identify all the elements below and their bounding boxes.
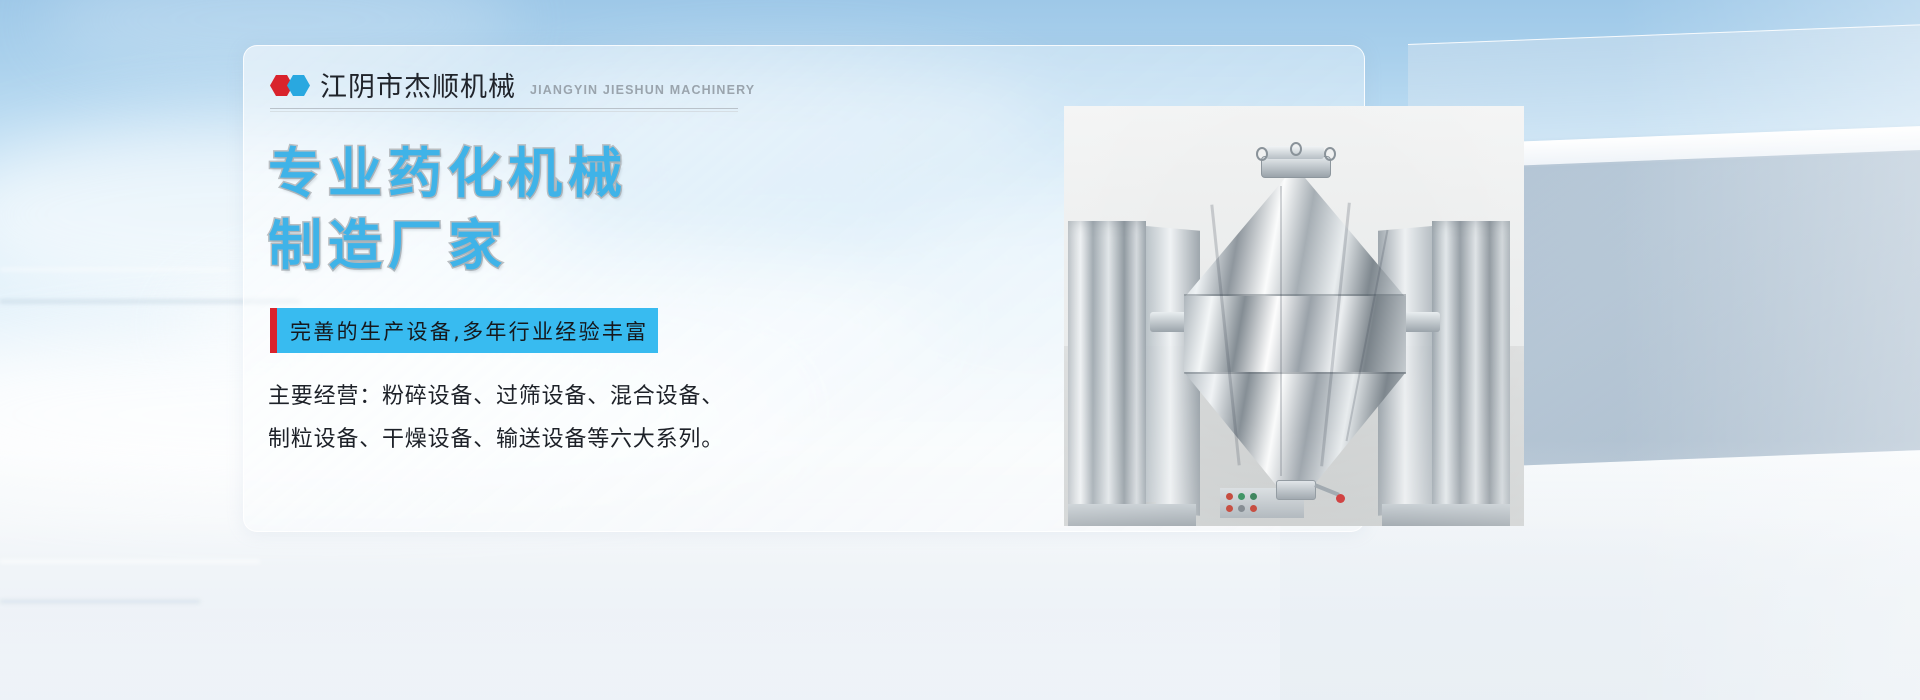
blue-hexagon-icon: [287, 75, 310, 96]
highlight-banner: 完善的生产设备,多年行业经验丰富: [270, 308, 658, 353]
photo-vignette: [1064, 106, 1524, 526]
horizon-streak: [0, 600, 200, 603]
body-line-1: 主要经营：粉碎设备、过筛设备、混合设备、: [268, 376, 788, 419]
highlight-text: 完善的生产设备,多年行业经验丰富: [290, 316, 648, 346]
architecture-glow: [1620, 0, 1920, 700]
company-logo-icon: [270, 70, 314, 96]
product-photo: [1064, 106, 1524, 526]
company-name-cn: 江阴市杰顺机械: [320, 74, 516, 101]
body-line-2: 制粒设备、干燥设备、输送设备等六大系列。: [268, 419, 788, 462]
horizon-streak: [0, 560, 260, 563]
horizon-streak: [0, 268, 230, 271]
content-card: 江阴市杰顺机械 JIANGYIN JIESHUN MACHINERY 专业药化机…: [243, 45, 1365, 532]
company-name-en: JIANGYIN JIESHUN MACHINERY: [530, 83, 755, 97]
headline-line-1: 专业药化机械: [268, 138, 628, 210]
headline-block: 专业药化机械 制造厂家: [268, 138, 628, 282]
banner-stage: 江阴市杰顺机械 JIANGYIN JIESHUN MACHINERY 专业药化机…: [0, 0, 1920, 700]
brand-lockup: 江阴市杰顺机械 JIANGYIN JIESHUN MACHINERY: [270, 70, 755, 101]
body-copy-block: 主要经营：粉碎设备、过筛设备、混合设备、 制粒设备、干燥设备、输送设备等六大系列…: [268, 376, 788, 462]
headline-line-2: 制造厂家: [268, 210, 628, 282]
brand-divider: [270, 108, 738, 109]
